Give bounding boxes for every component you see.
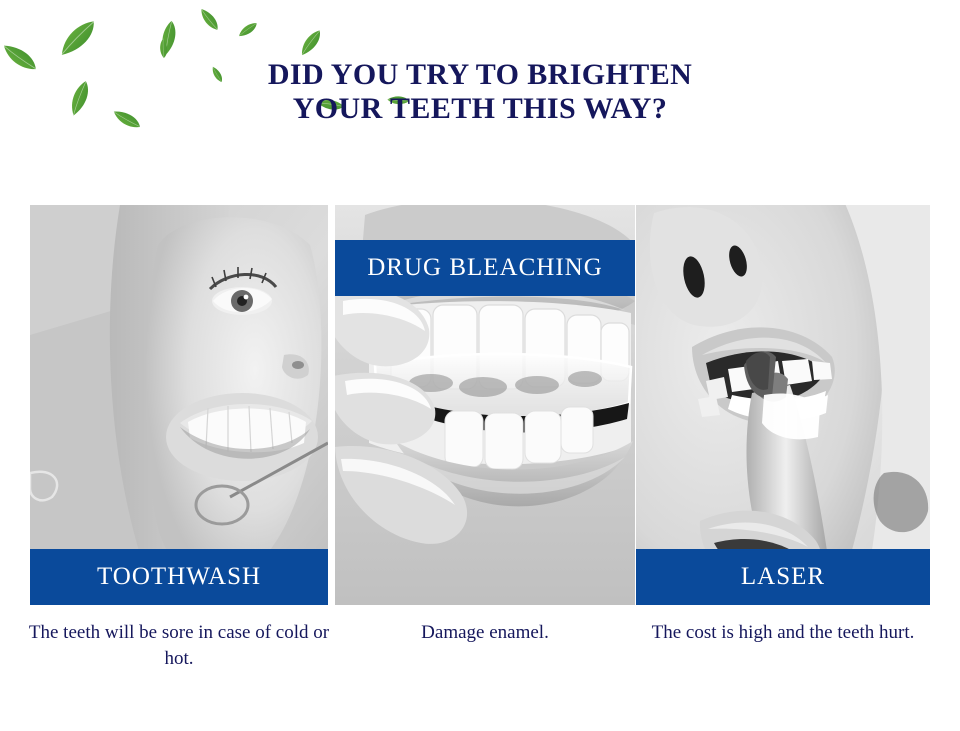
photo-laser bbox=[636, 205, 930, 605]
leaf-icon bbox=[154, 19, 184, 57]
card-label-toothwash: TOOTHWASH bbox=[97, 563, 261, 591]
caption-laser: The cost is high and the teeth hurt. bbox=[628, 620, 938, 646]
page-title-line-2: YOUR TEETH THIS WAY? bbox=[0, 92, 960, 126]
caption-toothwash: The teeth will be sore in case of cold o… bbox=[20, 620, 338, 671]
leaf-icon bbox=[235, 19, 259, 35]
leaf-icon bbox=[295, 29, 327, 58]
caption-list: The teeth will be sore in case of cold o… bbox=[0, 620, 960, 710]
leaf-icon bbox=[195, 8, 223, 32]
page-title: DID YOU TRY TO BRIGHTEN YOUR TEETH THIS … bbox=[0, 58, 960, 125]
caption-drug-bleaching: Damage enamel. bbox=[335, 620, 635, 646]
page-title-line-1: DID YOU TRY TO BRIGHTEN bbox=[0, 58, 960, 92]
card-label-bar-drug-bleaching: DRUG BLEACHING bbox=[335, 240, 635, 296]
method-card-list: TOOTHWASH bbox=[0, 205, 960, 605]
leaf-icon bbox=[53, 18, 103, 58]
card-label-bar-laser: LASER bbox=[636, 549, 930, 605]
card-label-drug-bleaching: DRUG BLEACHING bbox=[367, 254, 603, 282]
method-card-drug-bleaching: DRUG BLEACHING bbox=[335, 205, 635, 605]
photo-toothwash bbox=[30, 205, 328, 605]
card-label-laser: LASER bbox=[741, 563, 825, 591]
method-card-laser: LASER bbox=[636, 205, 930, 605]
method-card-toothwash: TOOTHWASH bbox=[30, 205, 328, 605]
card-label-bar-toothwash: TOOTHWASH bbox=[30, 549, 328, 605]
